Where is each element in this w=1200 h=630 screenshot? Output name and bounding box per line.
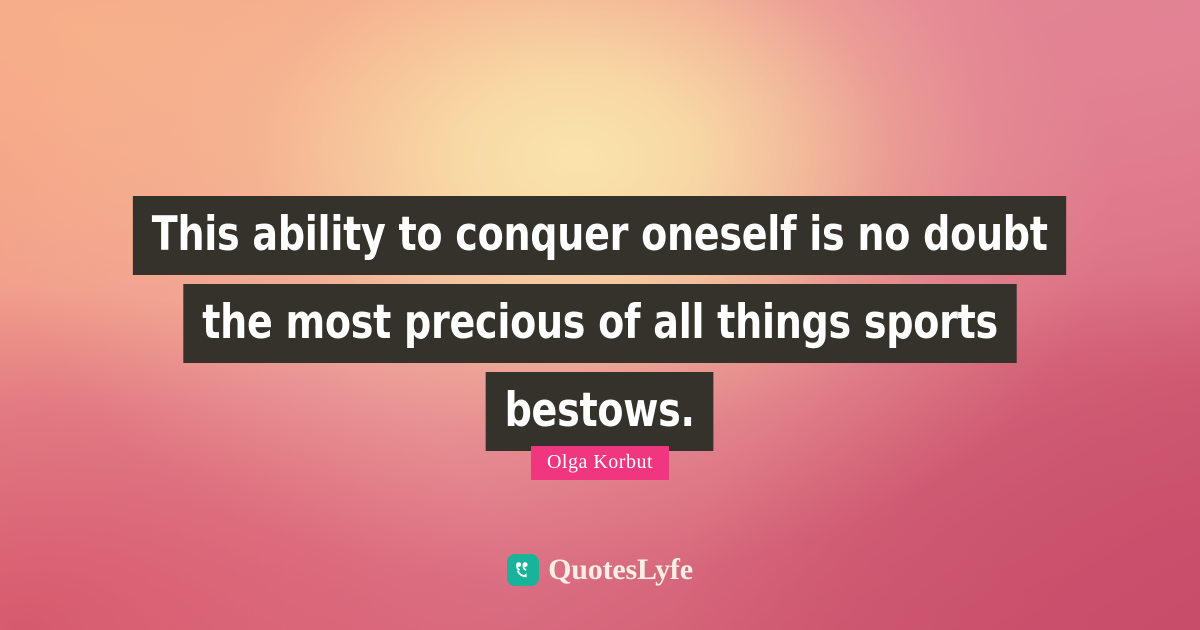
quote-card: This ability to conquer oneself is no do… [0, 0, 1200, 630]
quote-mark-icon [507, 554, 539, 586]
quote-line-2: the most precious of all things sports [183, 284, 1017, 363]
author-name-badge: Olga Korbut [531, 446, 669, 480]
brand-logo[interactable]: QuotesLyfe [0, 554, 1200, 586]
author-attribution: Olga Korbut [0, 446, 1200, 480]
quote-line-1: This ability to conquer oneself is no do… [133, 196, 1067, 275]
quote-line-3: bestows. [486, 372, 714, 451]
brand-name: QuotesLyfe [548, 555, 693, 585]
quote-text-block: This ability to conquer oneself is no do… [0, 196, 1200, 451]
